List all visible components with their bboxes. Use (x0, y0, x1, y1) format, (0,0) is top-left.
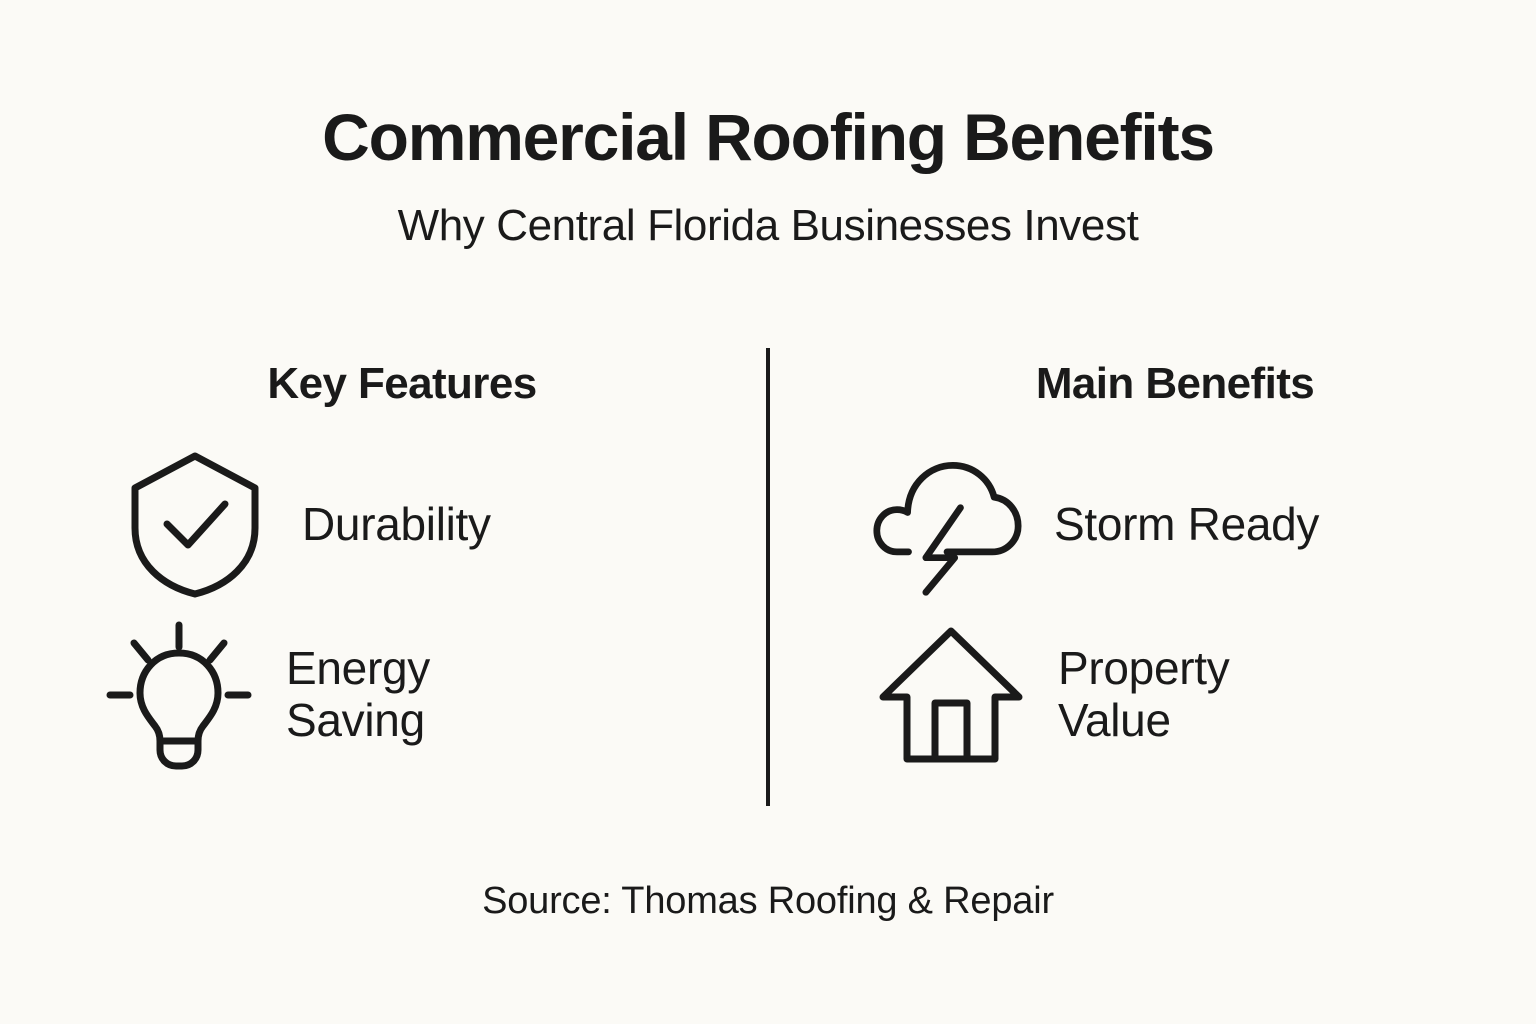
column-divider (766, 348, 770, 806)
list-item-label: Durability (302, 499, 491, 551)
list-item-label: Energy Saving (286, 643, 430, 746)
columns-container: Key Features Durability (0, 348, 1536, 806)
feature-list-left: Durability (96, 450, 768, 770)
list-item: Storm Ready (864, 450, 1536, 600)
column-key-features: Key Features Durability (0, 348, 768, 806)
column-main-benefits: Main Benefits Storm Ready (768, 348, 1536, 806)
feature-list-right: Storm Ready Property Value (864, 450, 1536, 770)
list-item-label: Storm Ready (1054, 499, 1319, 551)
list-item-label: Property Value (1058, 643, 1229, 746)
source-footer: Source: Thomas Roofing & Repair (0, 880, 1536, 923)
list-item: Durability (96, 450, 768, 600)
column-heading-key-features: Key Features (36, 362, 768, 406)
page-title: Commercial Roofing Benefits (0, 104, 1536, 170)
column-heading-main-benefits: Main Benefits (814, 362, 1536, 406)
list-item: Property Value (864, 620, 1536, 770)
shield-check-icon (120, 450, 270, 600)
lightbulb-icon (104, 620, 254, 770)
header: Commercial Roofing Benefits Why Central … (0, 104, 1536, 248)
storm-cloud-lightning-icon (872, 450, 1022, 600)
list-item: Energy Saving (96, 620, 768, 770)
infographic-poster: Commercial Roofing Benefits Why Central … (0, 0, 1536, 1024)
house-icon (876, 620, 1026, 770)
page-subtitle: Why Central Florida Businesses Invest (0, 204, 1536, 248)
